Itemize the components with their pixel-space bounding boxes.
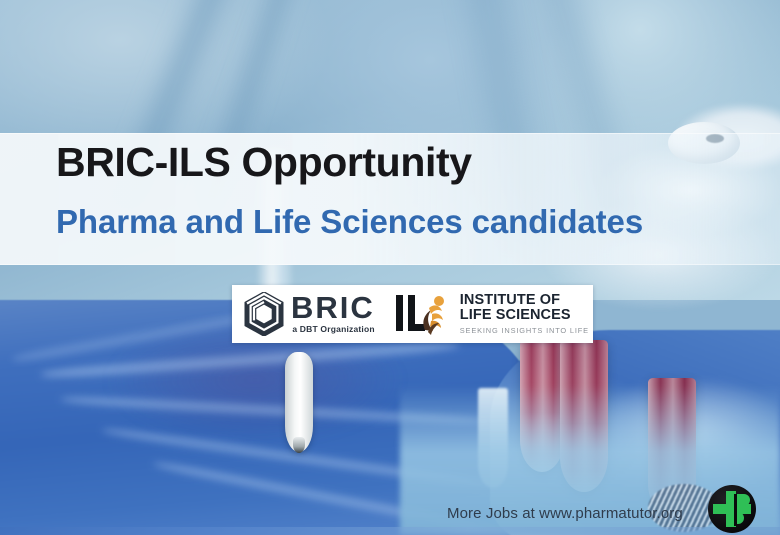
- ils-logo: INSTITUTE OF LIFE SCIENCES SEEKING INSIG…: [395, 290, 589, 338]
- ils-name-line1: INSTITUTE OF: [460, 293, 589, 308]
- logo-band: BRIC a DBT Organization INST: [232, 285, 593, 343]
- bric-hexagon-icon: [242, 292, 286, 336]
- bric-tagline: a DBT Organization: [292, 324, 374, 334]
- background-photo: [0, 0, 780, 535]
- page-title: BRIC-ILS Opportunity: [56, 142, 472, 183]
- bric-wordmark-group: BRIC a DBT Organization: [291, 294, 375, 335]
- pen-tip: [293, 437, 305, 453]
- ils-text-group: INSTITUTE OF LIFE SCIENCES SEEKING INSIG…: [460, 293, 589, 335]
- footer-credit: More Jobs at www.pharmatutor.org: [447, 505, 683, 522]
- poster-image: BRIC-ILS Opportunity Pharma and Life Sci…: [0, 0, 780, 535]
- bric-logo: BRIC a DBT Organization: [242, 292, 375, 336]
- bric-wordmark: BRIC: [291, 294, 375, 323]
- ils-tagline: SEEKING INSIGHTS INTO LIFE: [460, 326, 589, 335]
- pharmatutor-logo: [708, 485, 756, 533]
- bottom-color-strip: [0, 527, 780, 535]
- page-subtitle: Pharma and Life Sciences candidates: [56, 205, 643, 238]
- ils-name-line2: LIFE SCIENCES: [460, 308, 589, 323]
- ils-figure-icon: [395, 290, 453, 338]
